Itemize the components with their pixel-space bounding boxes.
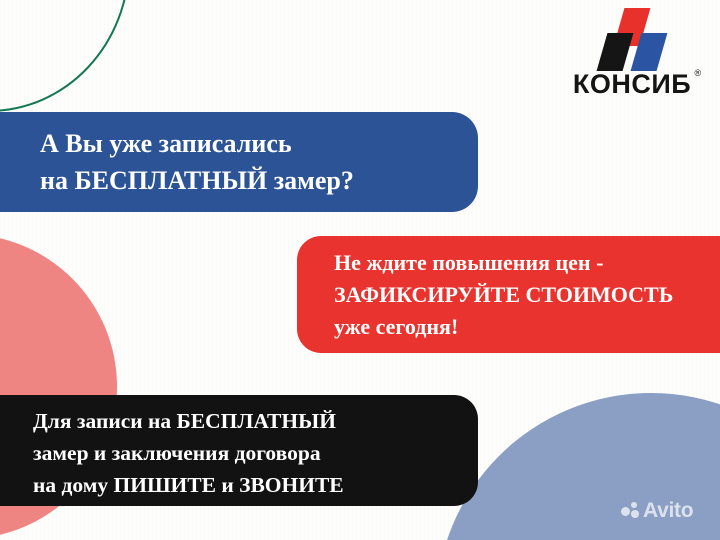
red-message-box: Не ждите повышения цен - ЗАФИКСИРУЙТЕ СТ… bbox=[297, 236, 720, 353]
blue-message-line-2: на БЕСПЛАТНЫЙ замер? bbox=[40, 163, 478, 200]
black-message-box: Для записи на БЕСПЛАТНЫЙ замер и заключе… bbox=[0, 395, 478, 506]
red-message-line-1: Не ждите повышения цен - bbox=[334, 247, 720, 279]
logo-mark-icon bbox=[592, 8, 672, 70]
logo-wordmark-row: КОНСИБ ® bbox=[573, 71, 691, 98]
blue-message-text: А Вы уже записались на БЕСПЛАТНЫЙ замер? bbox=[0, 112, 478, 200]
avito-wordmark: Avito bbox=[643, 500, 693, 521]
konsib-logo: КОНСИБ ® bbox=[562, 8, 702, 98]
red-message-line-3: уже сегодня! bbox=[334, 311, 720, 343]
black-message-text: Для записи на БЕСПЛАТНЫЙ замер и заключе… bbox=[0, 395, 478, 501]
avito-dot-small bbox=[631, 502, 637, 508]
black-parallelogram-icon bbox=[597, 33, 634, 71]
avito-watermark: Avito bbox=[621, 500, 693, 521]
avito-dot-large bbox=[621, 507, 630, 516]
black-message-line-3: на дому ПИШИТЕ и ЗВОНИТЕ bbox=[33, 469, 478, 501]
registered-trademark-icon: ® bbox=[695, 68, 702, 78]
advertisement-banner: КОНСИБ ® А Вы уже записались на БЕСПЛАТН… bbox=[0, 0, 720, 540]
black-message-line-2: замер и заключения договора bbox=[33, 437, 478, 469]
red-message-line-2: ЗАФИКСИРУЙТЕ СТОИМОСТЬ bbox=[334, 279, 720, 311]
red-message-text: Не ждите повышения цен - ЗАФИКСИРУЙТЕ СТ… bbox=[297, 236, 720, 343]
logo-wordmark: КОНСИБ bbox=[573, 69, 691, 99]
avito-dots-icon bbox=[621, 501, 640, 520]
blue-message-box: А Вы уже записались на БЕСПЛАТНЫЙ замер? bbox=[0, 112, 478, 212]
black-message-line-1: Для записи на БЕСПЛАТНЫЙ bbox=[33, 405, 478, 437]
blue-message-line-1: А Вы уже записались bbox=[40, 126, 478, 163]
avito-dot-medium bbox=[631, 510, 639, 518]
green-ring-decoration bbox=[0, 0, 130, 112]
